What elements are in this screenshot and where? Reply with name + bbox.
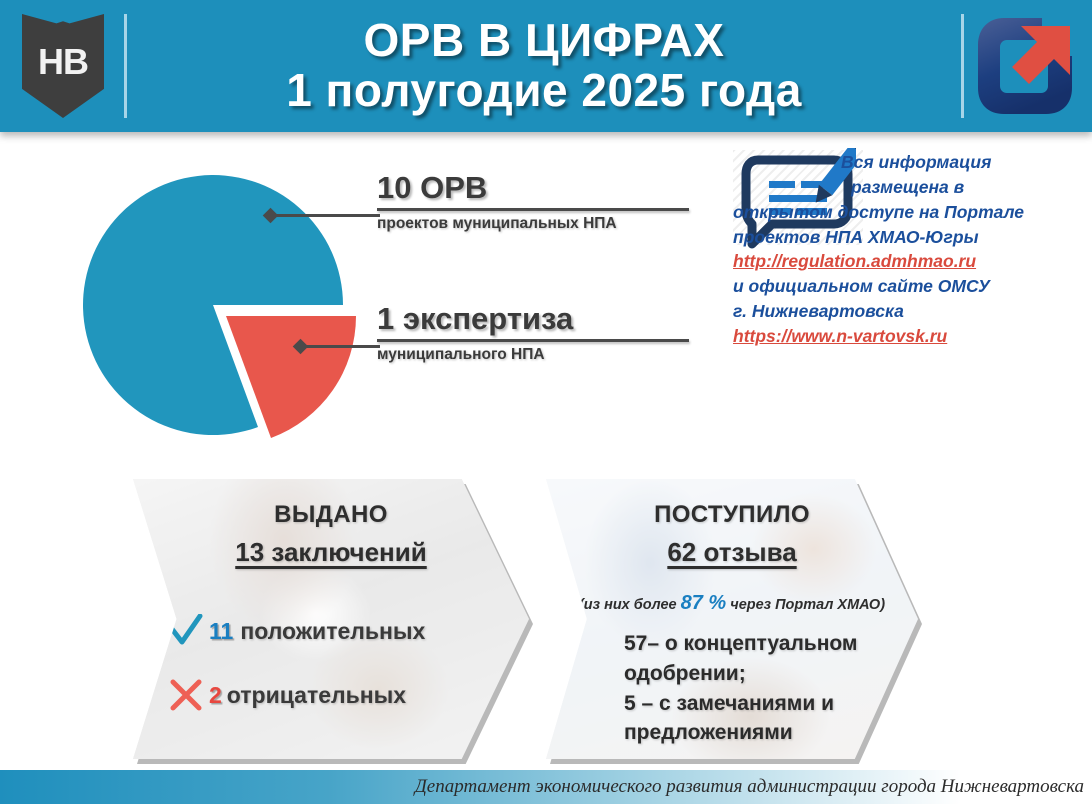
issued-negative-row: 2 отрицательных bbox=[163, 678, 529, 712]
issued-panel-title: ВЫДАНО bbox=[133, 501, 529, 529]
nv-logo-text: НВ bbox=[22, 44, 104, 80]
header-divider-right bbox=[961, 14, 964, 118]
callout-expertise-caption: муниципального НПА bbox=[377, 346, 689, 364]
issued-positive-label: положительных bbox=[240, 618, 425, 645]
issued-panel-subtitle: 13 заключений bbox=[133, 537, 529, 568]
received-panel-title: ПОСТУПИЛО bbox=[546, 501, 918, 529]
page-header: НВ ОРВ В ЦИФРАХ 1 полугодие 2025 года bbox=[0, 0, 1092, 132]
check-icon-svg bbox=[168, 614, 204, 648]
portal-link[interactable]: http://regulation.admhmao.ru bbox=[733, 249, 1085, 274]
received-panel-list: 57– о концептуальном одобрении; 5 – с за… bbox=[546, 629, 918, 748]
callout-orv-rule bbox=[377, 208, 689, 211]
note-percent: 87 % bbox=[681, 592, 727, 614]
callout-orv: 10 ОРВ проектов муниципальных НПА bbox=[377, 172, 689, 233]
callout-expertise-value: 1 экспертиза bbox=[377, 303, 689, 336]
info-text: Вся информация размещена в открытом дост… bbox=[733, 150, 1085, 349]
pie-chart-svg bbox=[55, 150, 375, 460]
issued-positive-number: 11 bbox=[209, 618, 233, 645]
note-prefix: (из них более bbox=[579, 597, 677, 613]
issued-negative-number: 2 bbox=[209, 682, 222, 709]
info-block: Вся информация размещена в открытом дост… bbox=[733, 150, 1085, 415]
check-icon bbox=[163, 614, 209, 648]
received-list-line-3: 5 – с замечаниями и bbox=[624, 689, 918, 719]
received-list-line-2: одобрении; bbox=[624, 659, 918, 689]
callout-expertise-rule bbox=[377, 339, 689, 342]
note-suffix: через Портал ХМАО) bbox=[730, 597, 885, 613]
cross-icon bbox=[163, 678, 209, 712]
callout-orv-value: 10 ОРВ bbox=[377, 172, 689, 205]
page-title: ОРВ В ЦИФРАХ 1 полугодие 2025 года bbox=[133, 16, 955, 115]
callout-expertise: 1 экспертиза муниципального НПА bbox=[377, 303, 689, 364]
issued-positive-row: 11 положительных bbox=[163, 614, 529, 648]
page-title-line1: ОРВ В ЦИФРАХ bbox=[364, 14, 725, 66]
cross-icon-svg bbox=[168, 678, 204, 712]
header-divider-left bbox=[124, 14, 127, 118]
received-panel-content: ПОСТУПИЛО 62 отзыва (из них более 87 % ч… bbox=[546, 479, 918, 759]
issued-negative-label: отрицательных bbox=[227, 682, 406, 709]
page-footer: Департамент экономического развития адми… bbox=[0, 770, 1092, 804]
info-line-4: проектов НПА ХМАО-Югры bbox=[733, 225, 1085, 250]
orv-arrow-logo-svg bbox=[974, 12, 1078, 120]
footer-text: Департамент экономического развития адми… bbox=[415, 776, 1092, 798]
received-panel-subtitle: 62 отзыва bbox=[546, 537, 918, 568]
issued-panel: ВЫДАНО 13 заключений 11 положительных 2 … bbox=[133, 479, 529, 759]
received-panel: ПОСТУПИЛО 62 отзыва (из них более 87 % ч… bbox=[546, 479, 918, 759]
info-line-5: и официальном сайте ОМСУ bbox=[733, 274, 1085, 299]
page-title-line2: 1 полугодие 2025 года bbox=[139, 66, 949, 116]
issued-panel-content: ВЫДАНО 13 заключений 11 положительных 2 … bbox=[133, 479, 529, 759]
info-line-2: размещена в bbox=[733, 175, 1085, 200]
orv-arrow-logo bbox=[970, 6, 1082, 126]
info-line-3: открытом доступе на Портале bbox=[733, 200, 1085, 225]
leader-line-orv bbox=[270, 214, 380, 217]
city-site-link[interactable]: https://www.n-vartovsk.ru bbox=[733, 324, 1085, 349]
info-line-1: Вся информация bbox=[733, 150, 1085, 175]
received-panel-note: (из них более 87 % через Портал ХМАО) bbox=[546, 592, 918, 615]
callout-orv-caption: проектов муниципальных НПА bbox=[377, 215, 689, 233]
orv-pie-chart bbox=[55, 150, 375, 460]
received-list-line-1: 57– о концептуальном bbox=[624, 629, 918, 659]
nv-shield-logo: НВ bbox=[8, 6, 118, 126]
info-line-6: г. Нижневартовска bbox=[733, 299, 1085, 324]
leader-line-expertise bbox=[300, 345, 380, 348]
